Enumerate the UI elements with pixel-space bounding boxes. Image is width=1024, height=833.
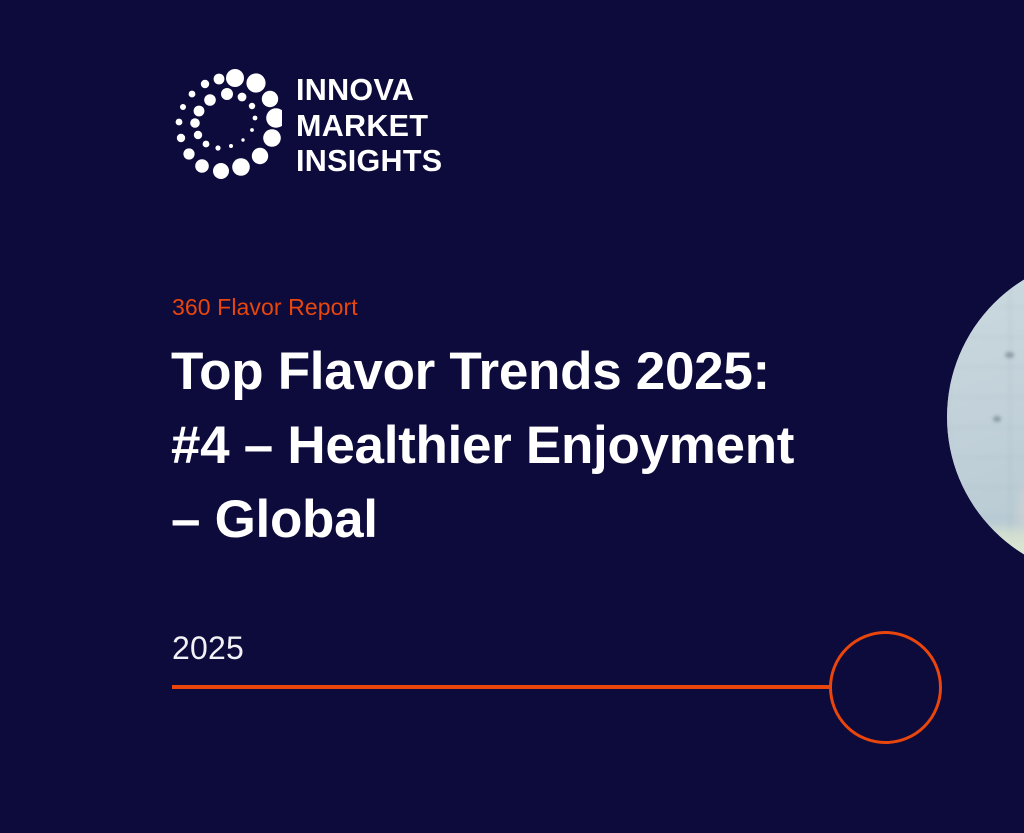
report-year: 2025 — [172, 630, 244, 667]
page-title-line-2: #4 – Healthier Enjoyment — [171, 409, 931, 483]
page-title-line-3: – Global — [171, 483, 931, 557]
photo-image — [947, 256, 1024, 578]
logo-wordmark-line-3: INSIGHTS — [296, 144, 442, 180]
orange-horizontal-rule — [172, 685, 884, 689]
logo-wordmark: INNOVA MARKET INSIGHTS — [296, 73, 442, 180]
logo-wordmark-line-1: INNOVA — [296, 73, 442, 109]
photo-texture-speck — [1005, 352, 1014, 358]
photo-texture-speck — [993, 416, 1001, 422]
innova-dot-spiral-logo-mark — [172, 68, 282, 183]
report-series-label: 360 Flavor Report — [172, 294, 358, 321]
report-cover-slide: INNOVA MARKET INSIGHTS 360 Flavor Report… — [0, 0, 1024, 833]
brand-logo: INNOVA MARKET INSIGHTS — [172, 68, 462, 186]
logo-wordmark-line-2: MARKET — [296, 109, 442, 145]
page-title: Top Flavor Trends 2025: #4 – Healthier E… — [171, 335, 931, 557]
orange-outline-circle — [829, 631, 942, 744]
page-title-line-1: Top Flavor Trends 2025: — [171, 335, 931, 409]
circular-lifestyle-photo — [947, 256, 1024, 578]
